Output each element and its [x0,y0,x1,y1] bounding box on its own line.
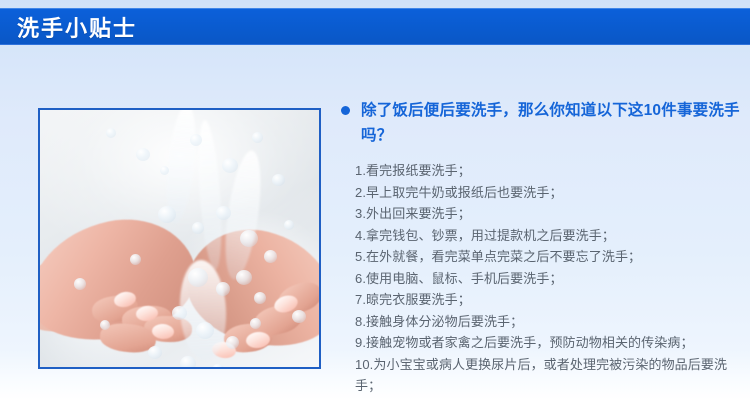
water-droplet [236,270,252,285]
water-droplet [190,134,202,146]
list-item: 5.在外就餐，看完菜单点完菜之后不要忘了洗手； [355,246,741,268]
lead-question-row: 除了饭后便后要洗手，那么你知道以下这10件事要洗手吗？ [341,98,741,148]
list-item: 4.拿完钱包、钞票，用过提款机之后要洗手； [355,225,741,247]
list-item: 8.接触身体分泌物后要洗手； [355,311,741,333]
photo-canvas [40,110,319,367]
water-droplet [74,278,86,290]
water-droplet [130,254,141,265]
lead-question-text: 除了饭后便后要洗手，那么你知道以下这10件事要洗手吗？ [361,98,741,148]
water-droplet [158,206,176,223]
list-item: 2.早上取完牛奶或报纸后也要洗手； [355,182,741,204]
water-droplet [264,250,277,263]
water-droplet [188,268,208,287]
water-droplet [106,128,116,138]
water-droplet [212,364,224,369]
tips-list: 1.看完报纸要洗手； 2.早上取完牛奶或报纸后也要洗手； 3.外出回来要洗手； … [341,160,741,397]
water-droplet [196,322,214,339]
fingernail-shape [245,331,271,349]
handwashing-photo [38,108,321,369]
water-droplet [292,310,306,323]
water-droplet [250,318,261,329]
water-droplet [192,222,204,234]
water-droplet [180,356,196,369]
water-droplet [148,346,162,359]
water-droplet [222,158,238,173]
list-item: 10.为小宝宝或病人更换尿片后，或者处理完被污染的物品后要洗手； [355,354,741,397]
water-droplet [252,132,263,143]
list-item: 7.晾完衣服要洗手； [355,289,741,311]
list-item: 1.看完报纸要洗手； [355,160,741,182]
water-droplet [172,306,187,320]
water-droplet [272,174,285,186]
water-droplet [226,336,239,349]
water-droplet [136,148,150,161]
header-bar: 洗手小贴士 [0,8,750,45]
bullet-dot-icon [341,106,350,115]
list-item: 9.接触宠物或者家禽之后要洗手，预防动物相关的传染病； [355,332,741,354]
water-droplet [216,282,230,296]
infographic-page: 洗手小贴士 [0,0,750,410]
water-droplet [216,206,231,220]
tips-content-column: 除了饭后便后要洗手，那么你知道以下这10件事要洗手吗？ 1.看完报纸要洗手； 2… [341,98,741,397]
list-item: 6.使用电脑、鼠标、手机后要洗手； [355,268,741,290]
water-droplet [254,292,266,304]
page-title: 洗手小贴士 [17,11,137,43]
water-droplet [240,230,258,247]
water-droplet [160,166,169,175]
water-droplet [100,320,110,330]
water-droplet [284,220,294,230]
list-item: 3.外出回来要洗手； [355,203,741,225]
